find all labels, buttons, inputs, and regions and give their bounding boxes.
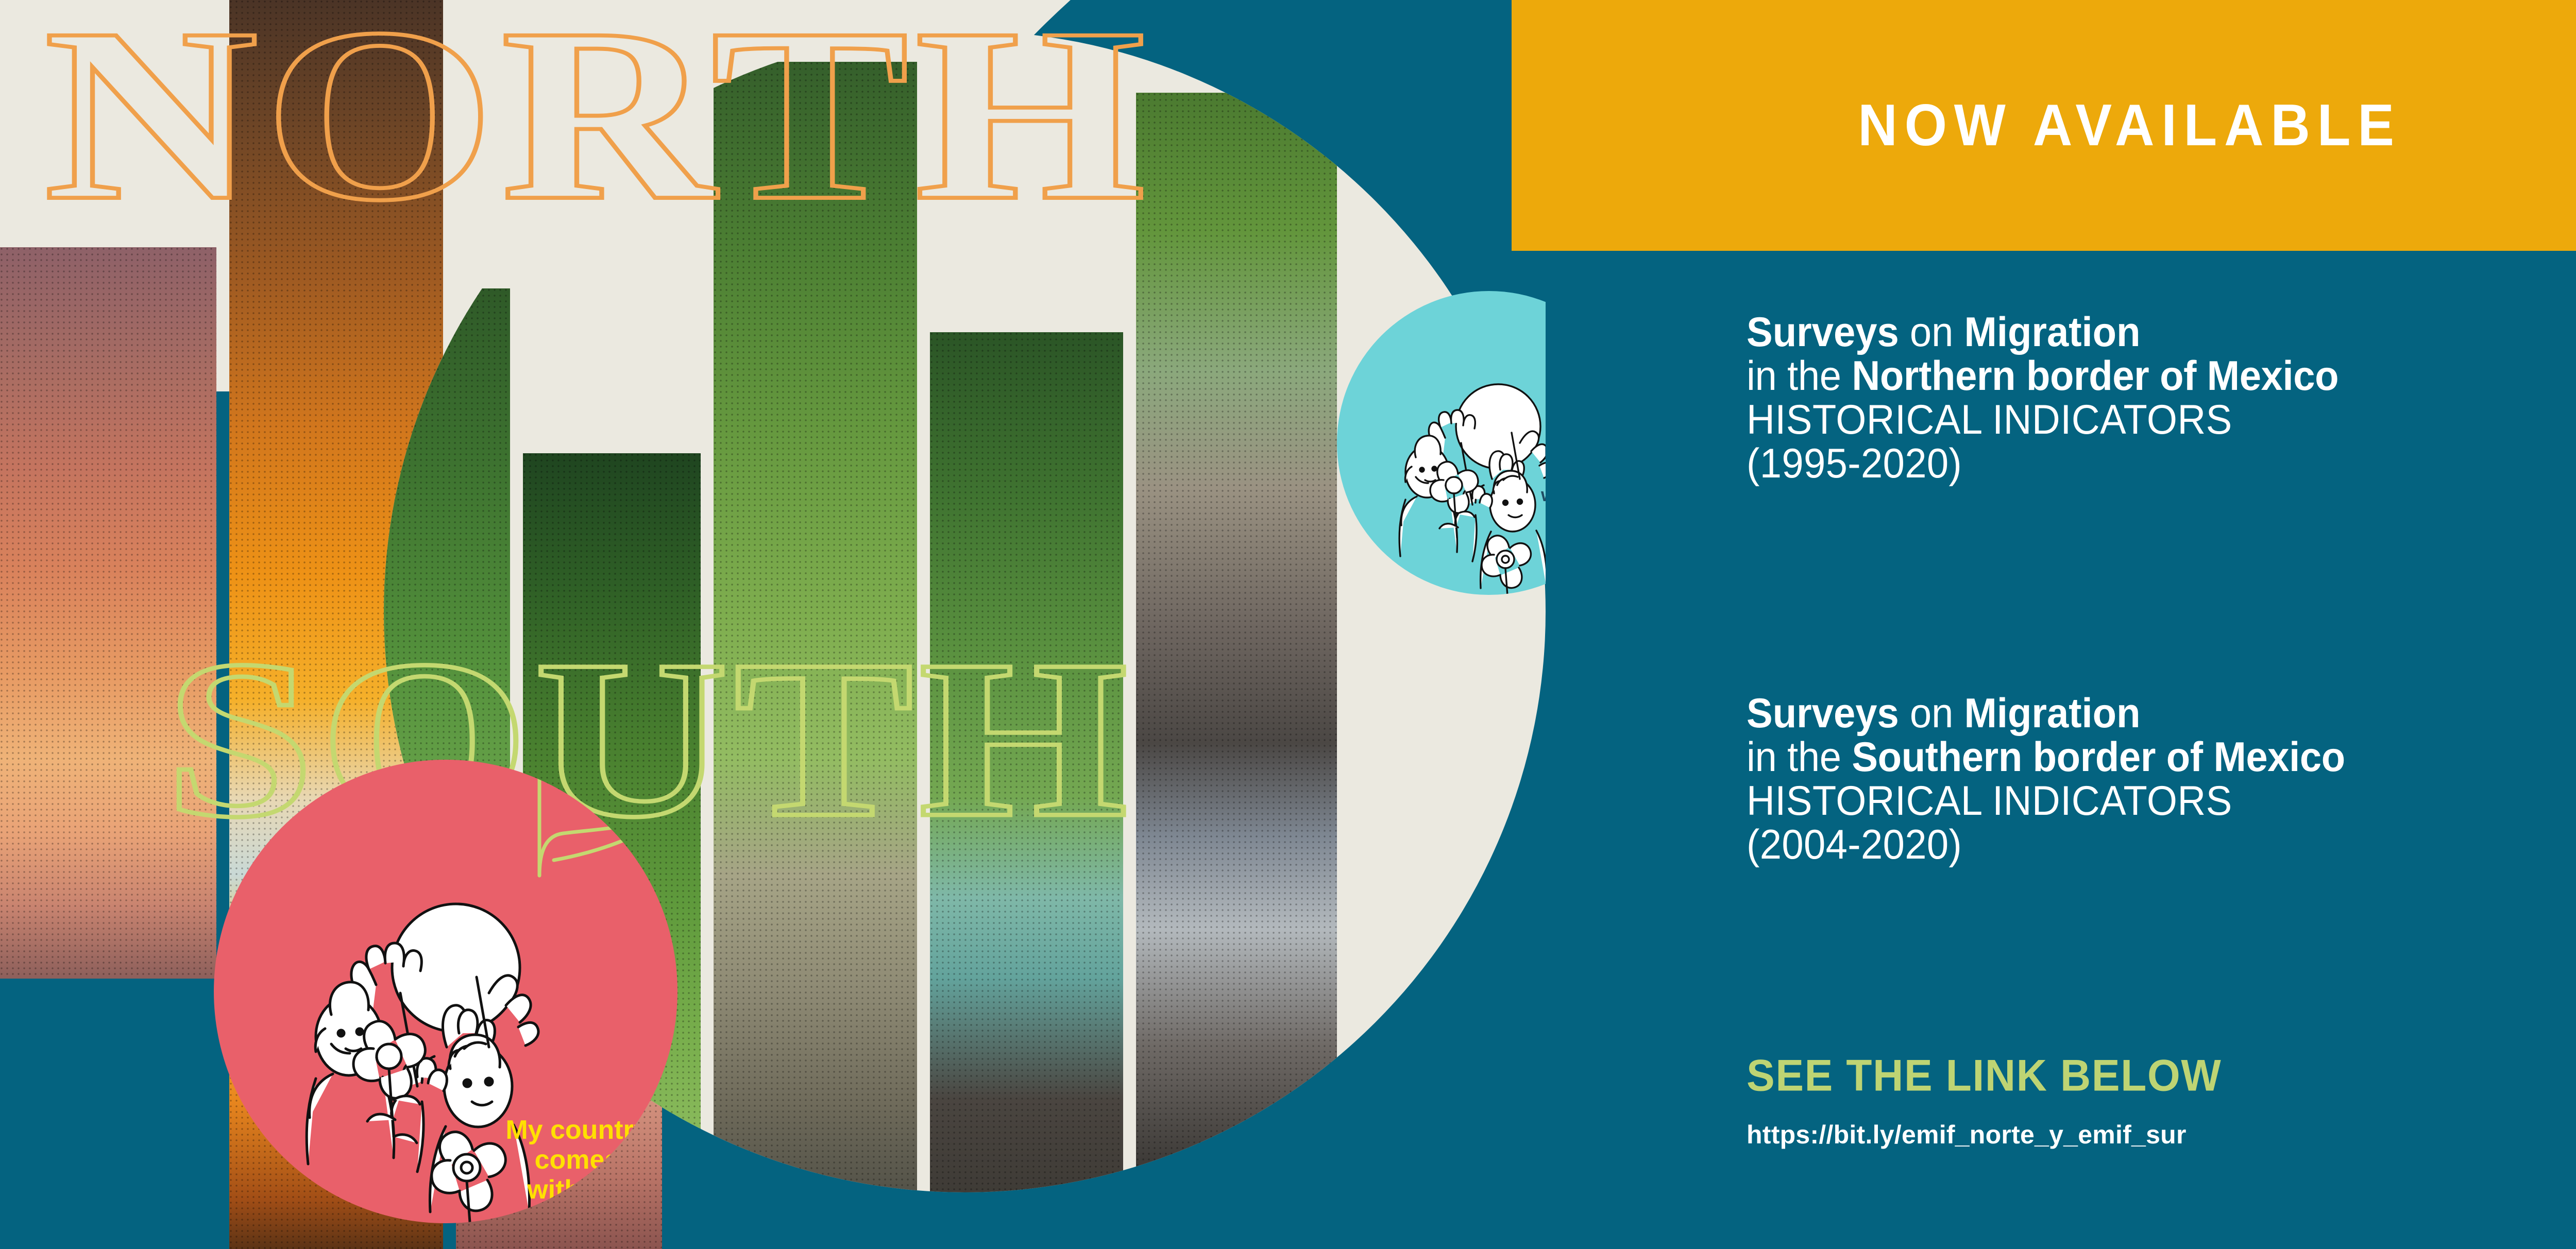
now-available-banner: NOW AVAILABLE <box>1512 0 2576 251</box>
cta-heading: SEE THE LINK BELOW <box>1747 1051 2576 1102</box>
publication-title-line: Surveys on Migration <box>1747 309 2576 355</box>
now-available-label: NOW AVAILABLE <box>1858 92 2401 159</box>
publication-north: Surveys on Migration in the Northern bor… <box>1747 309 2576 484</box>
publication-years-line: (2004-2020) <box>1747 822 2576 868</box>
caption-line: comes <box>1527 464 1546 484</box>
photo-strip-tropical-umbrella-crossing <box>930 332 1123 1192</box>
caption-line: with me <box>502 1175 652 1205</box>
cta-url-link[interactable]: https://bit.ly/emif_norte_y_emif_sur <box>1747 1120 2576 1150</box>
badge-my-country: My country comes with me <box>214 760 677 1223</box>
people-illustration-icon <box>1365 350 1546 595</box>
title-connector: on <box>1899 690 1964 737</box>
subtitle-prefix: in the <box>1747 734 1852 780</box>
title-emphasis: Surveys <box>1747 690 1899 737</box>
title-emphasis: Migration <box>1964 690 2141 737</box>
caption-line: with me <box>1527 485 1546 505</box>
photo-strip-tropical-field-worker <box>714 62 917 1192</box>
subtitle-prefix: in the <box>1747 353 1852 399</box>
title-emphasis: Migration <box>1964 309 2141 355</box>
publication-kind-line: HISTORICAL INDICATORS <box>1747 778 2576 824</box>
caption-line: comes <box>502 1145 652 1175</box>
caption-line: My city <box>1527 443 1546 464</box>
badge-caption-my-city: My city comes with me <box>1527 443 1546 505</box>
title-connector: on <box>1899 309 1964 355</box>
title-emphasis: Surveys <box>1747 309 1899 355</box>
caption-line: My country <box>502 1115 652 1145</box>
publication-subtitle-line: in the Southern border of Mexico <box>1747 734 2576 780</box>
publication-south: Surveys on Migration in the Southern bor… <box>1747 690 2576 865</box>
info-panel: NOW AVAILABLE Surveys on Migration in th… <box>1546 0 2576 1249</box>
subtitle-emphasis: Southern border of Mexico <box>1852 734 2345 780</box>
publication-subtitle-line: in the Northern border of Mexico <box>1747 353 2576 399</box>
subtitle-emphasis: Northern border of Mexico <box>1852 353 2338 399</box>
publication-title-line: Surveys on Migration <box>1747 690 2576 737</box>
photo-strip-migrants-riverbank-group <box>1136 93 1337 1192</box>
publication-years-line: (1995-2020) <box>1747 440 2576 487</box>
photo-strip-desert-sunset-cactus-1 <box>0 247 216 979</box>
promotional-banner: NORTH SOUTH <box>0 0 2576 1249</box>
badge-caption-my-country: My country comes with me <box>502 1115 652 1205</box>
photo-collage: NORTH SOUTH <box>0 0 1546 1249</box>
call-to-action: SEE THE LINK BELOW https://bit.ly/emif_n… <box>1747 1051 2576 1150</box>
publication-kind-line: HISTORICAL INDICATORS <box>1747 397 2576 443</box>
